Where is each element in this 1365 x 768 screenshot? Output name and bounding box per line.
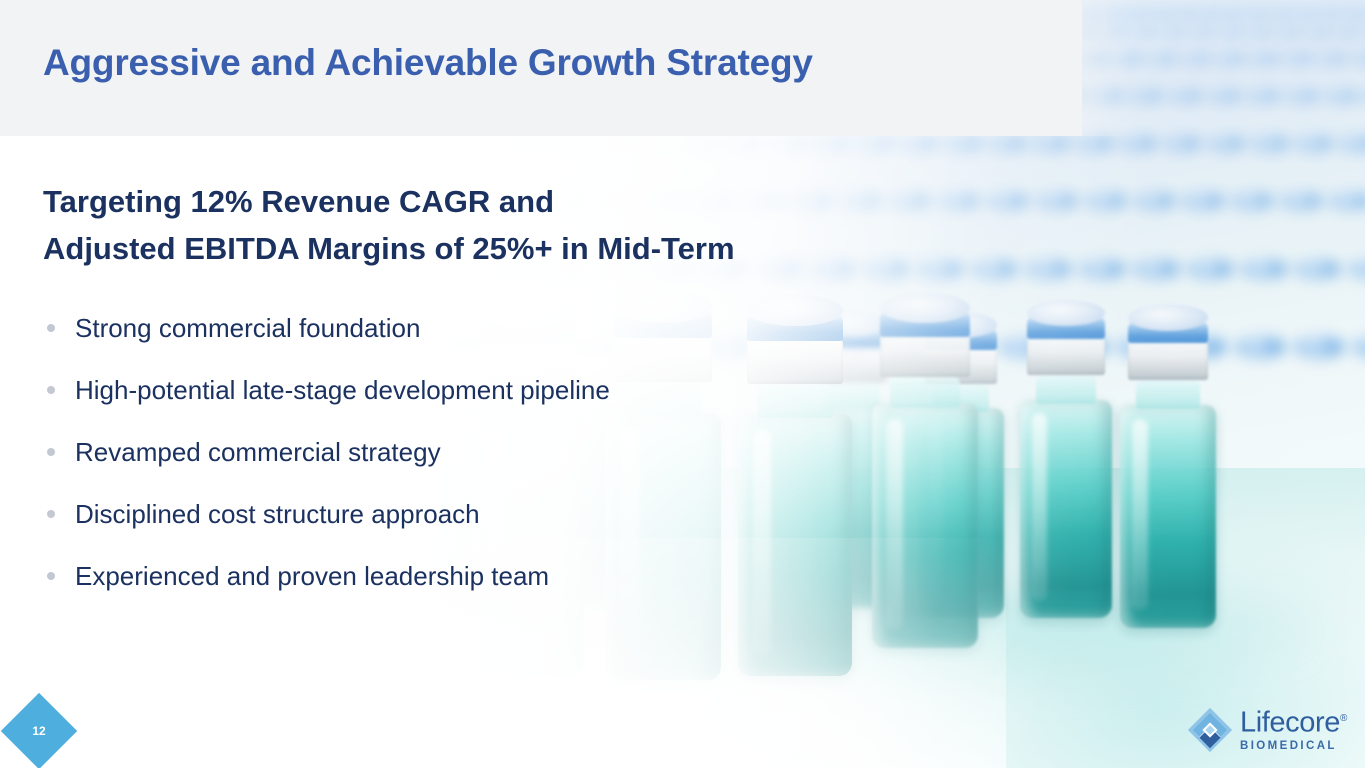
logo-word-text: Lifecore: [1240, 707, 1340, 739]
list-item-label: Disciplined cost structure approach: [75, 499, 480, 529]
list-item-label: Experienced and proven leadership team: [75, 561, 549, 591]
list-item: Disciplined cost structure approach: [43, 493, 610, 555]
bullet-dot-icon: [47, 324, 55, 332]
list-item-label: High-potential late-stage development pi…: [75, 375, 610, 405]
page-number: 12: [12, 704, 66, 758]
list-item: High-potential late-stage development pi…: [43, 369, 610, 431]
list-item-label: Revamped commercial strategy: [75, 437, 441, 467]
list-item: Experienced and proven leadership team: [43, 555, 610, 617]
list-item: Revamped commercial strategy: [43, 431, 610, 493]
subtitle-line-2: Adjusted EBITDA Margins of 25%+ in Mid-T…: [43, 225, 735, 272]
subtitle-line-1: Targeting 12% Revenue CAGR and: [43, 178, 735, 225]
header-band-fade: [1000, 0, 1130, 136]
bullet-dot-icon: [47, 386, 55, 394]
lifecore-diamond-icon: [1186, 706, 1234, 754]
bullet-dot-icon: [47, 448, 55, 456]
bullet-dot-icon: [47, 572, 55, 580]
list-item: Strong commercial foundation: [43, 307, 610, 369]
logo-tagline: BIOMEDICAL: [1240, 739, 1356, 753]
page-title: Aggressive and Achievable Growth Strateg…: [43, 42, 813, 84]
list-item-label: Strong commercial foundation: [75, 313, 420, 343]
logo-word: Lifecore®: [1240, 703, 1356, 739]
registered-trademark-icon: ®: [1340, 713, 1347, 724]
lifecore-logo: Lifecore® BIOMEDICAL: [1186, 703, 1356, 755]
bullet-dot-icon: [47, 510, 55, 518]
bullet-list: Strong commercial foundation High-potent…: [43, 307, 610, 617]
presentation-slide: Aggressive and Achievable Growth Strateg…: [0, 0, 1365, 768]
lifecore-wordmark: Lifecore® BIOMEDICAL: [1240, 703, 1356, 753]
slide-subtitle: Targeting 12% Revenue CAGR and Adjusted …: [43, 178, 735, 272]
